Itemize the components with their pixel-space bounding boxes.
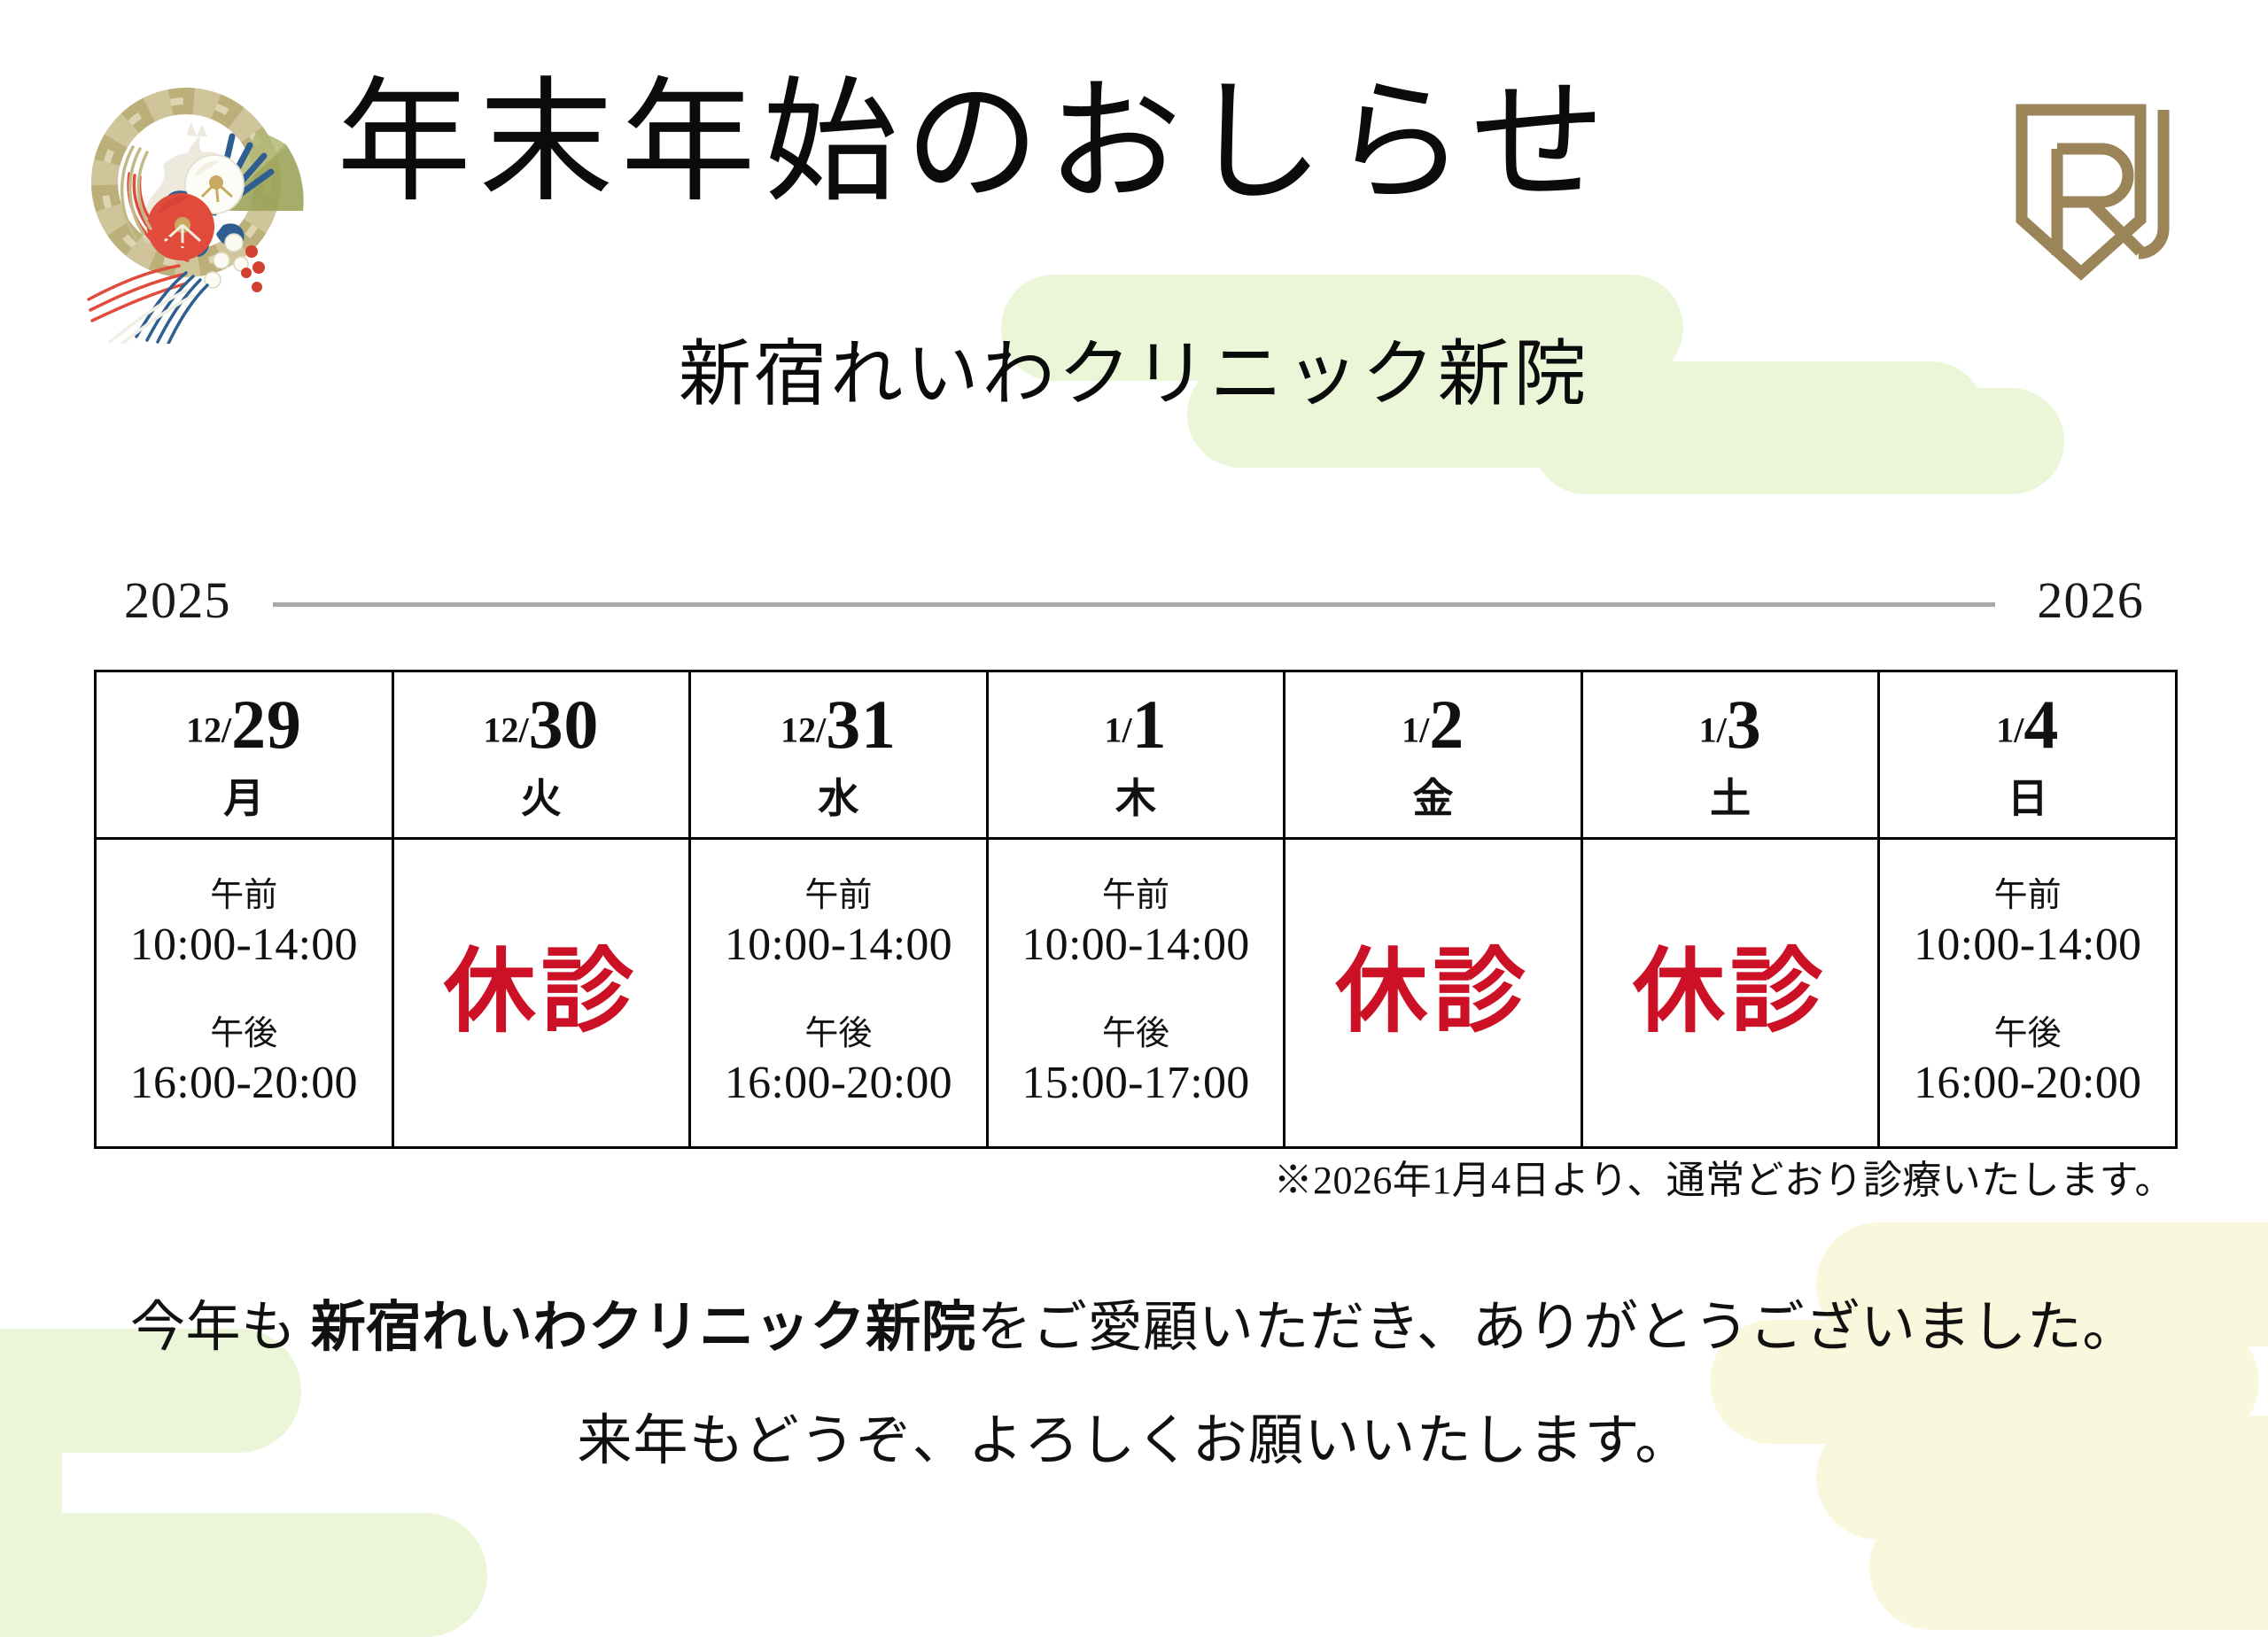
date-month: 1 xyxy=(1699,710,1717,750)
page-title: 年末年始のおしらせ xyxy=(337,76,2002,211)
hours-cell: 午前 10:00-14:00 午後 16:00-20:00 xyxy=(1879,839,2177,1148)
morning-hours: 10:00-14:00 xyxy=(1021,918,1249,973)
date-month: 1 xyxy=(1402,710,1419,750)
weekday-label: 土 xyxy=(1710,779,1751,819)
date-header-cell: 1/4 日 xyxy=(1879,671,2177,839)
afternoon-hours: 15:00-17:00 xyxy=(1021,1056,1249,1111)
weekday-label: 火 xyxy=(521,779,562,819)
year-rail-line xyxy=(273,602,1995,607)
schedule-table: 12/29 月 12/30 火 xyxy=(94,670,2178,1149)
date-month: 1 xyxy=(1996,710,2014,750)
closing-message-line-1: 今年も 新宿れいわクリニック新院をご愛顧いただき、ありがとうございました。 xyxy=(0,1300,2268,1355)
closed-cell: 休診 xyxy=(1285,839,1582,1148)
date-day: 3 xyxy=(1727,686,1762,763)
weekday-label: 月 xyxy=(223,779,264,819)
date-month: 12 xyxy=(484,710,519,750)
afternoon-label: 午後 xyxy=(210,1013,277,1056)
closed-label: 休診 xyxy=(1633,947,1828,1039)
end-year-label: 2026 xyxy=(2037,570,2144,630)
morning-label: 午前 xyxy=(1102,875,1169,918)
morning-label: 午前 xyxy=(1994,875,2062,918)
new-year-wreath-icon xyxy=(82,78,338,344)
date-label: 12/31 xyxy=(781,690,897,759)
closed-cell: 休診 xyxy=(1581,839,1879,1148)
afternoon-label: 午後 xyxy=(1102,1013,1169,1056)
date-month: 12 xyxy=(781,710,816,750)
date-header-cell: 1/2 金 xyxy=(1285,671,1582,839)
closed-label: 休診 xyxy=(1335,947,1530,1039)
hours-cell: 午前 10:00-14:00 午後 15:00-17:00 xyxy=(987,839,1285,1148)
afternoon-hours: 16:00-20:00 xyxy=(130,1056,358,1111)
date-day: 2 xyxy=(1429,686,1464,763)
clinic-shield-logo-icon xyxy=(2008,96,2185,282)
date-slash: / xyxy=(519,710,529,750)
date-month: 1 xyxy=(1105,710,1122,750)
date-month: 12 xyxy=(186,710,221,750)
afternoon-hours: 16:00-20:00 xyxy=(725,1056,952,1111)
poster-canvas: 年末年始のおしらせ 新宿れいわクリニック新院 2025 2026 xyxy=(0,0,2268,1617)
date-day: 4 xyxy=(2023,686,2059,763)
date-header-cell: 1/3 土 xyxy=(1581,671,1879,839)
date-slash: / xyxy=(1717,710,1727,750)
weekday-label: 水 xyxy=(818,779,858,819)
start-year-label: 2025 xyxy=(124,570,231,630)
weekday-label: 日 xyxy=(2008,779,2048,819)
morning-hours: 10:00-14:00 xyxy=(725,918,952,973)
date-label: 1/4 xyxy=(1996,690,2059,759)
date-header-cell: 1/1 木 xyxy=(987,671,1285,839)
date-slash: / xyxy=(1122,710,1132,750)
date-day: 29 xyxy=(231,686,302,763)
date-slash: / xyxy=(2014,710,2023,750)
closing-message-line-2: 来年もどうぞ、よろしくお願いいたします。 xyxy=(0,1414,2268,1469)
year-rail: 2025 2026 xyxy=(0,558,2268,640)
schedule-hours-row: 午前 10:00-14:00 午後 16:00-20:00 休診 xyxy=(96,839,2177,1148)
schedule-header-row: 12/29 月 12/30 火 xyxy=(96,671,2177,839)
closing-suffix: をご愛顧いただき、ありがとうございました。 xyxy=(976,1298,2138,1358)
afternoon-hours: 16:00-20:00 xyxy=(1914,1056,2141,1111)
date-slash: / xyxy=(1419,710,1429,750)
date-slash: / xyxy=(816,710,826,750)
date-label: 1/1 xyxy=(1105,690,1168,759)
date-day: 31 xyxy=(826,686,897,763)
schedule-table-wrapper: 12/29 月 12/30 火 xyxy=(94,670,2178,1149)
weekday-label: 金 xyxy=(1413,779,1454,819)
morning-hours: 10:00-14:00 xyxy=(130,918,358,973)
date-day: 1 xyxy=(1132,686,1168,763)
date-header-cell: 12/30 火 xyxy=(392,671,690,839)
afternoon-label: 午後 xyxy=(1994,1013,2062,1056)
poster-header: 年末年始のおしらせ 新宿れいわクリニック新院 xyxy=(0,0,2268,549)
date-header-cell: 12/31 水 xyxy=(690,671,988,839)
date-label: 12/30 xyxy=(484,690,600,759)
afternoon-label: 午後 xyxy=(804,1013,872,1056)
date-label: 12/29 xyxy=(186,690,302,759)
morning-hours: 10:00-14:00 xyxy=(1914,918,2141,973)
closing-prefix: 今年も xyxy=(130,1298,311,1358)
date-header-cell: 12/29 月 xyxy=(96,671,393,839)
date-day: 30 xyxy=(529,686,600,763)
morning-label: 午前 xyxy=(804,875,872,918)
schedule-note: ※2026年1月4日より、通常どおり診療いたします。 xyxy=(1274,1148,2174,1205)
hours-cell: 午前 10:00-14:00 午後 16:00-20:00 xyxy=(690,839,988,1148)
closing-message: 今年も 新宿れいわクリニック新院をご愛顧いただき、ありがとうございました。 来年… xyxy=(0,1300,2268,1469)
morning-label: 午前 xyxy=(210,875,277,918)
date-label: 1/2 xyxy=(1402,690,1464,759)
hours-cell: 午前 10:00-14:00 午後 16:00-20:00 xyxy=(96,839,393,1148)
closing-clinic-name: 新宿れいわクリニック新院 xyxy=(311,1298,976,1358)
clinic-name-subtitle: 新宿れいわクリニック新院 xyxy=(0,338,2268,411)
closed-cell: 休診 xyxy=(392,839,690,1148)
weekday-label: 木 xyxy=(1115,779,1156,819)
closed-label: 休診 xyxy=(444,947,639,1039)
date-label: 1/3 xyxy=(1699,690,1762,759)
date-slash: / xyxy=(221,710,231,750)
